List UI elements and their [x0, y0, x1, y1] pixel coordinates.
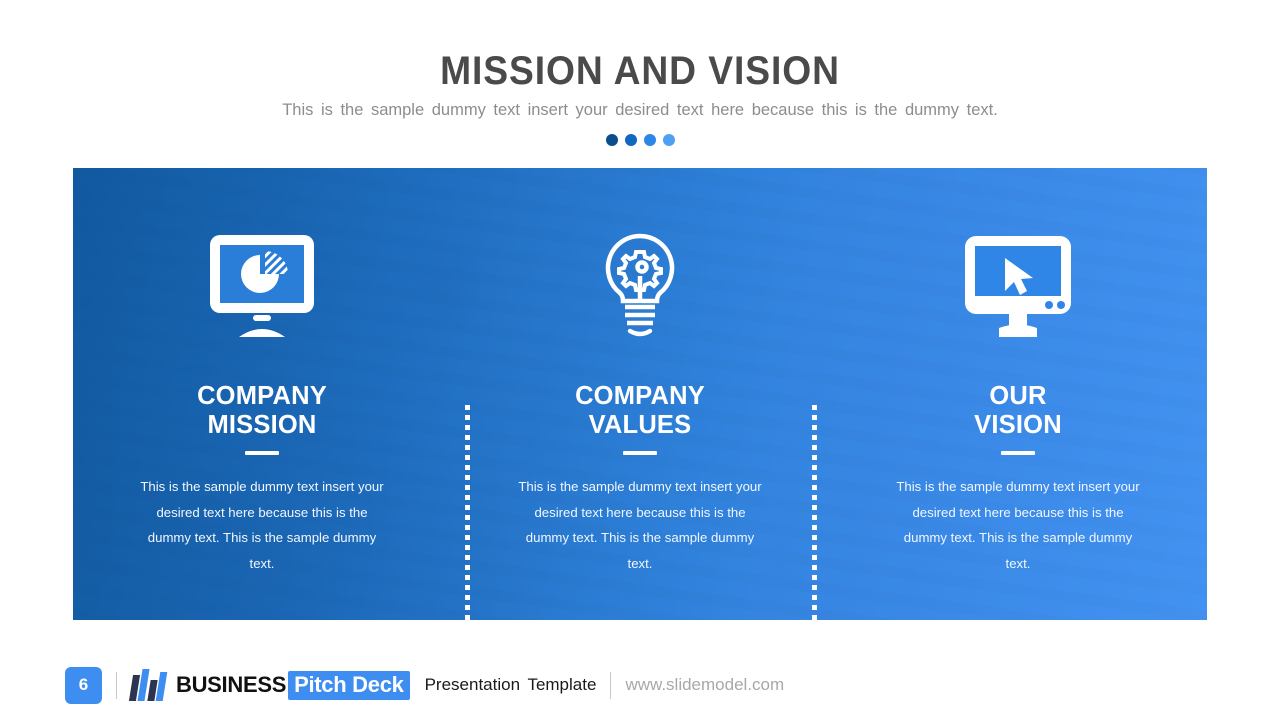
- footer-divider-1: [116, 672, 117, 699]
- column-title-line1: COMPANY: [575, 382, 705, 410]
- column-body-text: This is the sample dummy text insert you…: [892, 474, 1144, 576]
- column-body-text: This is the sample dummy text insert you…: [136, 474, 388, 576]
- footer-divider-2: [610, 672, 611, 699]
- dot-indicator-group: [0, 134, 1280, 146]
- brand-name: BUSINESS Pitch Deck: [176, 671, 410, 700]
- page-number-badge: 6: [65, 667, 102, 704]
- dotted-divider-1: [465, 405, 470, 620]
- column-title-line2: MISSION: [207, 411, 316, 439]
- column-title-line2: VISION: [974, 411, 1062, 439]
- brand-logo-icon: [131, 669, 165, 701]
- monitor-cursor-icon: [963, 230, 1073, 342]
- columns-group: COMPANY MISSION This is the sample dummy…: [73, 168, 1207, 620]
- dot-indicator-2: [625, 134, 637, 146]
- brand-secondary: Pitch Deck: [288, 671, 410, 700]
- dot-indicator-3: [644, 134, 656, 146]
- dot-indicator-4: [663, 134, 675, 146]
- title-underline: [1001, 451, 1035, 455]
- slide-header: MISSION AND VISION This is the sample du…: [0, 0, 1280, 146]
- brand-primary: BUSINESS: [176, 672, 286, 698]
- title-underline: [623, 451, 657, 455]
- column-title: OUR VISION: [974, 382, 1062, 439]
- content-banner: COMPANY MISSION This is the sample dummy…: [73, 168, 1207, 620]
- column-company-values[interactable]: COMPANY VALUES This is the sample dummy …: [451, 168, 829, 620]
- lightbulb-gear-icon: [592, 230, 688, 342]
- slide-footer: 6 BUSINESS Pitch Deck Presentation Templ…: [65, 662, 784, 708]
- footer-url[interactable]: www.slidemodel.com: [625, 675, 784, 695]
- dotted-divider-2: [812, 405, 817, 620]
- column-company-mission[interactable]: COMPANY MISSION This is the sample dummy…: [73, 168, 451, 620]
- logo-bar-4: [156, 672, 168, 701]
- column-body-text: This is the sample dummy text insert you…: [514, 474, 766, 576]
- column-title: COMPANY VALUES: [575, 382, 705, 439]
- footer-tagline: Presentation Template: [425, 675, 597, 695]
- page-subtitle: This is the sample dummy text insert you…: [0, 101, 1280, 120]
- column-title-line2: VALUES: [589, 411, 692, 439]
- column-title: COMPANY MISSION: [197, 382, 327, 439]
- monitor-pie-chart-icon: [209, 230, 315, 342]
- title-underline: [245, 451, 279, 455]
- page-title: MISSION AND VISION: [45, 50, 1235, 92]
- dot-indicator-1: [606, 134, 618, 146]
- column-title-line1: OUR: [989, 382, 1046, 410]
- column-our-vision[interactable]: OUR VISION This is the sample dummy text…: [829, 168, 1207, 620]
- column-title-line1: COMPANY: [197, 382, 327, 410]
